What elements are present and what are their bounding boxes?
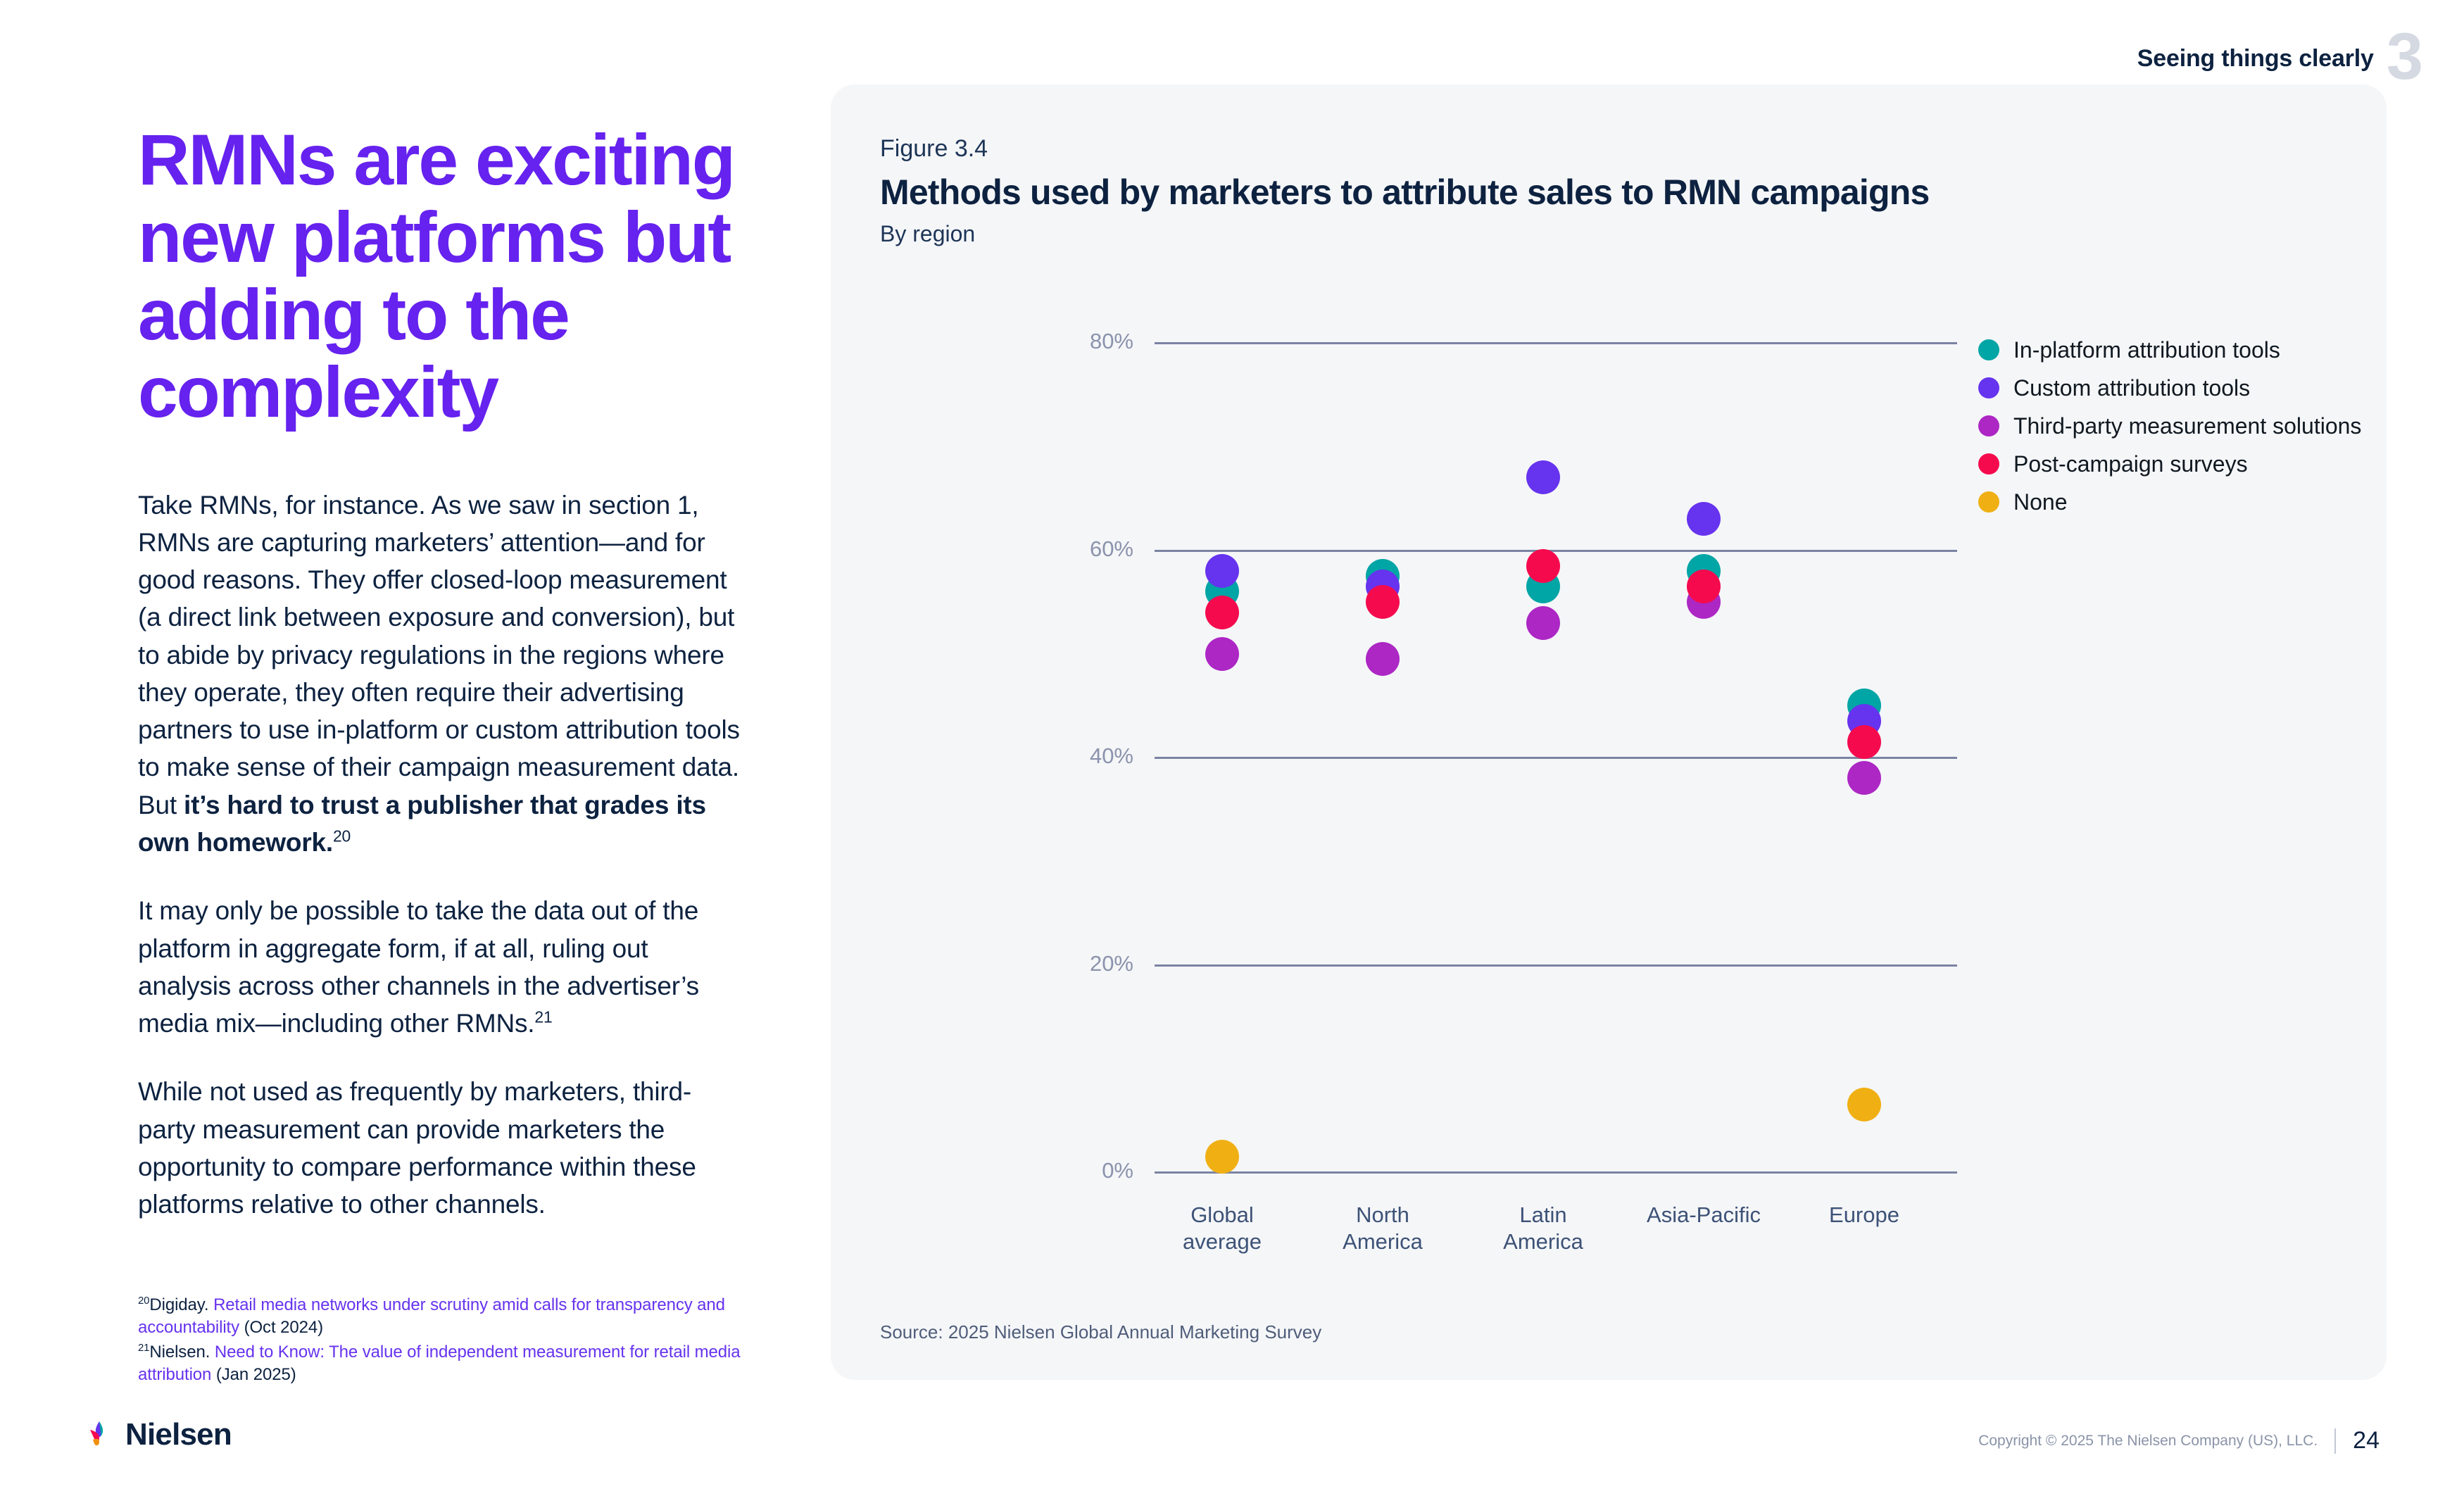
data-point[interactable] (1205, 596, 1239, 629)
legend-item[interactable]: Post-campaign surveys (1978, 445, 2361, 483)
footnote-20-marker: 20 (138, 1295, 149, 1307)
figure-panel: Figure 3.4 Methods used by marketers to … (831, 84, 2387, 1380)
legend-swatch-icon (1978, 491, 1999, 513)
data-point[interactable] (1847, 1088, 1881, 1121)
data-point[interactable] (1687, 570, 1721, 603)
gridline (1155, 342, 1957, 344)
legend-label: None (2013, 489, 2068, 515)
article-body: Take RMNs, for instance. As we saw in se… (138, 486, 743, 1224)
paragraph-1-emphasis: it’s hard to trust a publisher that grad… (138, 791, 706, 857)
legend-swatch-icon (1978, 415, 1999, 436)
chart-legend: In-platform attribution toolsCustom attr… (1978, 331, 2361, 521)
data-point[interactable] (1847, 761, 1881, 795)
legend-label: In-platform attribution tools (2013, 337, 2280, 363)
y-axis-tick: 60% (1056, 536, 1133, 562)
page-title: RMNs are exciting new platforms but addi… (138, 121, 786, 432)
gridline (1155, 757, 1957, 759)
gridline (1155, 550, 1957, 552)
x-axis-tick: Europe (1773, 1202, 1956, 1228)
paragraph-3: While not used as frequently by marketer… (138, 1073, 743, 1223)
footnote-20-source: Digiday. (149, 1295, 213, 1314)
footnote-ref-20[interactable]: 20 (333, 827, 351, 846)
footer-divider (2334, 1428, 2336, 1454)
nielsen-mark-icon (83, 1419, 115, 1451)
copyright-text: Copyright © 2025 The Nielsen Company (US… (1978, 1433, 2318, 1450)
y-axis-tick: 20% (1056, 951, 1133, 976)
section-number: 3 (2387, 28, 2422, 84)
scatter-plot: 0%20%40%60%80%GlobalaverageNorthAmericaL… (831, 84, 2387, 1380)
footnote-21: 21Nielsen. Need to Know: The value of in… (138, 1341, 765, 1387)
footnote-21-date: (Jan 2025) (211, 1365, 296, 1384)
data-point[interactable] (1526, 549, 1560, 583)
legend-swatch-icon (1978, 339, 1999, 360)
gridline (1155, 1171, 1957, 1174)
data-point[interactable] (1366, 585, 1400, 619)
footnote-ref-21[interactable]: 21 (534, 1008, 552, 1026)
figure-source: Source: 2025 Nielsen Global Annual Marke… (880, 1321, 1321, 1343)
page-number: 24 (2353, 1427, 2380, 1454)
paragraph-2-text: It may only be possible to take the data… (138, 896, 699, 1038)
data-point[interactable] (1526, 460, 1560, 494)
data-point[interactable] (1205, 1140, 1239, 1174)
footnotes: 20Digiday. Retail media networks under s… (138, 1294, 765, 1388)
x-axis-tick: Globalaverage (1131, 1202, 1314, 1255)
legend-item[interactable]: Custom attribution tools (1978, 369, 2361, 407)
nielsen-logo-text: Nielsen (125, 1417, 232, 1452)
y-axis-tick: 40% (1056, 743, 1133, 769)
footnote-21-marker: 21 (138, 1343, 149, 1354)
page-header: Seeing things clearly 3 (2137, 28, 2422, 84)
x-axis-tick: NorthAmerica (1291, 1202, 1474, 1255)
legend-item[interactable]: Third-party measurement solutions (1978, 407, 2361, 445)
data-point[interactable] (1366, 642, 1400, 676)
y-axis-tick: 0% (1056, 1158, 1133, 1183)
footnote-20: 20Digiday. Retail media networks under s… (138, 1294, 765, 1340)
legend-swatch-icon (1978, 377, 1999, 398)
footer-right: Copyright © 2025 The Nielsen Company (US… (1978, 1427, 2380, 1454)
page-footer: Nielsen Copyright © 2025 The Nielsen Com… (0, 1417, 2464, 1466)
footnote-20-link[interactable]: Retail media networks under scrutiny ami… (138, 1295, 725, 1337)
paragraph-1-text: Take RMNs, for instance. As we saw in se… (138, 491, 740, 819)
data-point[interactable] (1205, 637, 1239, 671)
paragraph-1: Take RMNs, for instance. As we saw in se… (138, 486, 743, 862)
legend-label: Post-campaign surveys (2013, 451, 2248, 477)
legend-item[interactable]: In-platform attribution tools (1978, 331, 2361, 369)
paragraph-3-text: While not used as frequently by marketer… (138, 1077, 696, 1219)
legend-item[interactable]: None (1978, 483, 2361, 521)
footnote-20-date: (Oct 2024) (239, 1318, 323, 1337)
footnote-21-source: Nielsen. (149, 1343, 214, 1362)
gridline (1155, 964, 1957, 967)
nielsen-logo: Nielsen (83, 1417, 232, 1452)
data-point[interactable] (1847, 725, 1881, 759)
data-point[interactable] (1687, 502, 1721, 536)
header-kicker: Seeing things clearly (2137, 28, 2374, 73)
x-axis-tick: LatinAmerica (1452, 1202, 1635, 1255)
legend-label: Third-party measurement solutions (2013, 413, 2361, 439)
y-axis-tick: 80% (1056, 329, 1133, 354)
legend-label: Custom attribution tools (2013, 375, 2250, 401)
data-point[interactable] (1205, 554, 1239, 588)
data-point[interactable] (1526, 606, 1560, 640)
article-column: RMNs are exciting new platforms but addi… (138, 121, 772, 1223)
x-axis-tick: Asia-Pacific (1612, 1202, 1795, 1228)
paragraph-2: It may only be possible to take the data… (138, 892, 743, 1042)
legend-swatch-icon (1978, 453, 1999, 474)
